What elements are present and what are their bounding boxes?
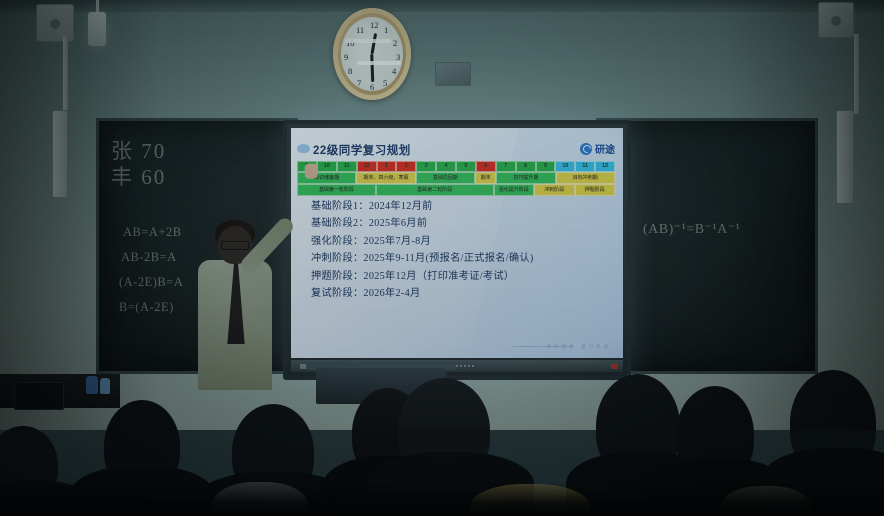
wall-clock: 12 1 2 3 4 5 6 7 8 9 10 11 bbox=[333, 8, 411, 100]
timeline-segment: 基础巼固期 bbox=[416, 172, 475, 184]
timeline-month-cell: 7 bbox=[496, 161, 516, 172]
timeline-month-cell: 9 bbox=[536, 161, 556, 172]
timeline-month-cell: 10 bbox=[555, 161, 575, 172]
clock-face: 12 1 2 3 4 5 6 7 8 9 10 11 bbox=[341, 17, 403, 91]
brand-label: 研途 bbox=[595, 141, 615, 156]
display-screen[interactable]: 22级同学复习规划 研途 9101112123456789101112 知识储备… bbox=[291, 128, 623, 358]
teacher-glasses bbox=[221, 241, 249, 250]
cable-conduit-left bbox=[63, 36, 68, 110]
slide-title: 22级同学复习规划 bbox=[313, 142, 411, 158]
timeline-month-row: 9101112123456789101112 bbox=[297, 161, 615, 172]
slide-line: 复试阶段：2026年2-4月 bbox=[311, 285, 613, 302]
clock-numeral: 11 bbox=[356, 25, 364, 35]
timeline-month-cell: 8 bbox=[516, 161, 536, 172]
slide-line: 基础阶段2：2025年6月前 bbox=[311, 215, 613, 232]
timeline-month-cell: 10 bbox=[317, 161, 337, 172]
clock-numeral: 7 bbox=[357, 78, 361, 88]
interactive-display[interactable]: 22级同学复习规划 研途 9101112123456789101112 知识储备… bbox=[283, 120, 631, 380]
foreground-shadow bbox=[0, 482, 884, 516]
slide-footnote: 考研宣讲 复习规划 bbox=[547, 344, 611, 350]
slide-line: 基础阶段1：2024年12月前 bbox=[311, 198, 613, 215]
title-bullet-icon bbox=[297, 144, 310, 153]
timeline-segment: 强化提升阶段 bbox=[494, 184, 535, 196]
slide-line: 冲刺阶段：2025年9-11月(预报名/正式报名/确认) bbox=[311, 250, 613, 267]
audience-silhouettes bbox=[0, 360, 884, 516]
chalk-equation: (AB)⁻¹=B⁻¹A⁻¹ bbox=[643, 221, 740, 238]
clock-numeral: 4 bbox=[392, 66, 396, 76]
clock-hour-hand bbox=[371, 33, 378, 54]
wall-mount-box-left bbox=[52, 110, 68, 198]
clock-numeral: 2 bbox=[393, 38, 397, 48]
study-plan-timeline: 9101112123456789101112 知识储备期期末、四六级、寒假基础巼… bbox=[297, 161, 615, 196]
clock-numeral: 5 bbox=[383, 78, 387, 88]
timeline-month-cell: 3 bbox=[416, 161, 436, 172]
chalk-equation: AB-2B=A bbox=[121, 250, 177, 265]
brand-mark-icon bbox=[580, 143, 592, 155]
timeline-segment: 期末、四六级、寒假 bbox=[356, 172, 415, 184]
timeline-segment: 目标冲刺期 bbox=[556, 172, 615, 184]
slide-body-lines: 基础阶段1：2024年12月前基础阶段2：2025年6月前强化阶段：2025年7… bbox=[311, 198, 613, 302]
timeline-segment: 冲刺阶段 bbox=[534, 184, 575, 196]
ceiling-edge bbox=[0, 0, 884, 12]
clock-glare bbox=[357, 61, 401, 65]
timeline-month-cell: 4 bbox=[436, 161, 456, 172]
timeline-segment: 押题阶段 bbox=[575, 184, 616, 196]
clock-numeral: 1 bbox=[384, 25, 388, 35]
timeline-month-cell: 11 bbox=[575, 161, 595, 172]
slide-line: 强化阶段：2025年7月-8月 bbox=[311, 233, 613, 250]
clock-glare bbox=[345, 39, 391, 43]
wall-mount-box-right bbox=[836, 110, 854, 204]
timeline-segment: 基础第二轮阶段 bbox=[376, 184, 494, 196]
timeline-month-cell: 12 bbox=[595, 161, 615, 172]
wall-speaker-right bbox=[818, 2, 854, 38]
classroom-scene: 12 1 2 3 4 5 6 7 8 9 10 11 张 70 丰 60 AB=… bbox=[0, 0, 884, 516]
pendant-lamp bbox=[88, 12, 106, 46]
timeline-month-cell: 5 bbox=[456, 161, 476, 172]
timeline-month-cell: 6 bbox=[476, 161, 496, 172]
chalk-heading: 丰 60 bbox=[111, 161, 166, 191]
clock-numeral: 9 bbox=[344, 52, 348, 62]
chalk-equation: (A-2E)B=A bbox=[119, 275, 183, 290]
timeline-segment: 期末 bbox=[475, 172, 496, 184]
slide-line: 押题阶段：2025年12月（打印准考证/考试） bbox=[311, 268, 613, 285]
teacher-hand bbox=[305, 164, 318, 179]
timeline-task-row: 知识储备期期末、四六级、寒假基础巼固期期末技巧提升期目标冲刺期 bbox=[297, 172, 615, 184]
clock-numeral: 8 bbox=[348, 66, 352, 76]
cable-conduit-right bbox=[854, 34, 859, 114]
timeline-month-cell: 11 bbox=[337, 161, 357, 172]
clock-numeral: 12 bbox=[370, 20, 379, 30]
chalk-equation: B=(A-2E) bbox=[119, 300, 174, 315]
brand-logo: 研途 bbox=[580, 141, 615, 156]
wall-control-panel[interactable] bbox=[435, 62, 471, 86]
timeline-month-cell: 12 bbox=[357, 161, 377, 172]
timeline-month-cell: 2 bbox=[396, 161, 416, 172]
timeline-segment: 技巧提升期 bbox=[496, 172, 555, 184]
timeline-month-cell: 1 bbox=[377, 161, 397, 172]
clock-minute-hand bbox=[371, 54, 374, 82]
chalk-equation: AB=A+2B bbox=[123, 225, 182, 240]
timeline-stage-row: 基础第一轮阶段基础第二轮阶段强化提升阶段冲刺阶段押题阶段 bbox=[297, 184, 615, 196]
clock-numeral: 6 bbox=[370, 82, 374, 92]
wall-speaker-left bbox=[36, 4, 74, 42]
timeline-segment: 基础第一轮阶段 bbox=[297, 184, 376, 196]
